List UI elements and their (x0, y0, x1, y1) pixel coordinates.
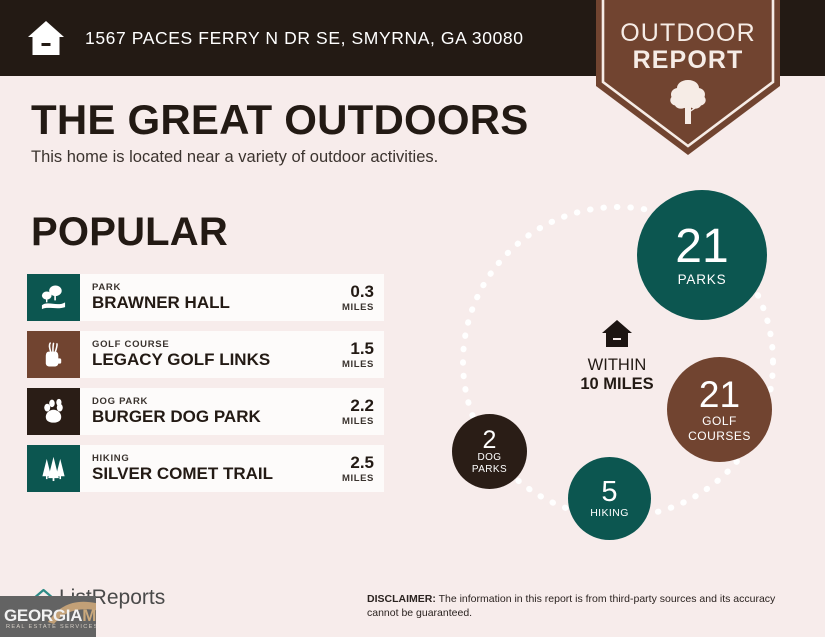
item-name: SILVER COMET TRAIL (92, 465, 320, 483)
item-distance: 0.3 MILES (320, 274, 384, 321)
list-item[interactable]: HIKING SILVER COMET TRAIL 2.5 MILES (27, 445, 384, 492)
watermark-subtitle: REAL ESTATE SERVICES (6, 624, 96, 630)
proximity-diagram: WITHIN 10 MILES 21 PARKS 21 GOLF COURSES… (432, 176, 804, 548)
distance-unit: MILES (342, 416, 374, 427)
disclaimer-label: DISCLAIMER: (367, 593, 436, 605)
bubble-count: 5 (601, 478, 617, 506)
item-category: GOLF COURSE (92, 340, 320, 350)
item-name: LEGACY GOLF LINKS (92, 351, 320, 369)
item-text: PARK BRAWNER HALL (80, 274, 320, 321)
distance-value: 0.3 (350, 283, 374, 300)
disclaimer: DISCLAIMER: The information in this repo… (367, 592, 792, 620)
item-name: BURGER DOG PARK (92, 408, 320, 426)
watermark-wordmark: GEORGIAMLS (4, 606, 96, 626)
paw-print-icon (40, 398, 67, 425)
bubble-label-line-1: DOG (478, 453, 502, 464)
distance-unit: MILES (342, 302, 374, 313)
item-category: PARK (92, 283, 320, 293)
distance-value: 1.5 (350, 340, 374, 357)
item-distance: 2.5 MILES (320, 445, 384, 492)
item-text: GOLF COURSE LEGACY GOLF LINKS (80, 331, 320, 378)
outdoor-report-page: 1567 PACES FERRY N DR SE, SMYRNA, GA 300… (0, 0, 825, 637)
home-icon (601, 319, 633, 349)
badge-line-2: REPORT (586, 47, 790, 74)
diagram-center: WITHIN 10 MILES (542, 319, 692, 394)
watermark-mls: MLS (82, 606, 96, 625)
distance-value: 2.2 (350, 397, 374, 414)
distance-value: 2.5 (350, 454, 374, 471)
list-item[interactable]: GOLF COURSE LEGACY GOLF LINKS 1.5 MILES (27, 331, 384, 378)
park-icon (40, 284, 67, 311)
bubble-dog-parks[interactable]: 2 DOG PARKS (452, 414, 527, 489)
page-subtitle: This home is located near a variety of o… (31, 148, 438, 167)
bubble-label: PARKS (678, 273, 727, 287)
popular-list: PARK BRAWNER HALL 0.3 MILES GOLF COURSE (27, 274, 384, 502)
distance-unit: MILES (342, 359, 374, 370)
item-distance: 1.5 MILES (320, 331, 384, 378)
golf-bag-icon (40, 341, 67, 368)
outdoor-report-badge: OUTDOOR REPORT (586, 0, 790, 155)
property-address: 1567 PACES FERRY N DR SE, SMYRNA, GA 300… (85, 28, 524, 49)
bubble-label-line-2: COURSES (688, 430, 751, 443)
bubble-label: HIKING (590, 508, 629, 519)
paw-print-icon-tile (27, 388, 80, 435)
georgia-mls-watermark: GEORGIAMLS REAL ESTATE SERVICES (0, 596, 96, 637)
bubble-count: 21 (699, 377, 740, 413)
item-name: BRAWNER HALL (92, 294, 320, 312)
bubble-count: 2 (483, 428, 497, 453)
popular-heading: POPULAR (31, 210, 228, 255)
badge-text-block: OUTDOOR REPORT (586, 20, 790, 73)
watermark-georgia: GEORGIA (4, 606, 82, 625)
golf-bag-icon-tile (27, 331, 80, 378)
bubble-golf-courses[interactable]: 21 GOLF COURSES (667, 357, 772, 462)
park-icon-tile (27, 274, 80, 321)
item-category: DOG PARK (92, 397, 320, 407)
item-distance: 2.2 MILES (320, 388, 384, 435)
center-line-1: WITHIN (542, 356, 692, 375)
bubble-label-line-1: GOLF (702, 415, 737, 428)
page-title: THE GREAT OUTDOORS (31, 96, 529, 144)
bubble-count: 21 (675, 223, 728, 270)
distance-unit: MILES (342, 473, 374, 484)
badge-line-1: OUTDOOR (586, 20, 790, 47)
list-item[interactable]: DOG PARK BURGER DOG PARK 2.2 MILES (27, 388, 384, 435)
pine-trees-icon-tile (27, 445, 80, 492)
bubble-label-line-2: PARKS (472, 465, 507, 476)
home-icon (26, 19, 66, 57)
item-text: DOG PARK BURGER DOG PARK (80, 388, 320, 435)
list-item[interactable]: PARK BRAWNER HALL 0.3 MILES (27, 274, 384, 321)
item-category: HIKING (92, 454, 320, 464)
pine-trees-icon (40, 455, 67, 482)
item-text: HIKING SILVER COMET TRAIL (80, 445, 320, 492)
bubble-hiking[interactable]: 5 HIKING (568, 457, 651, 540)
tree-icon (668, 78, 708, 126)
bubble-parks[interactable]: 21 PARKS (637, 190, 767, 320)
